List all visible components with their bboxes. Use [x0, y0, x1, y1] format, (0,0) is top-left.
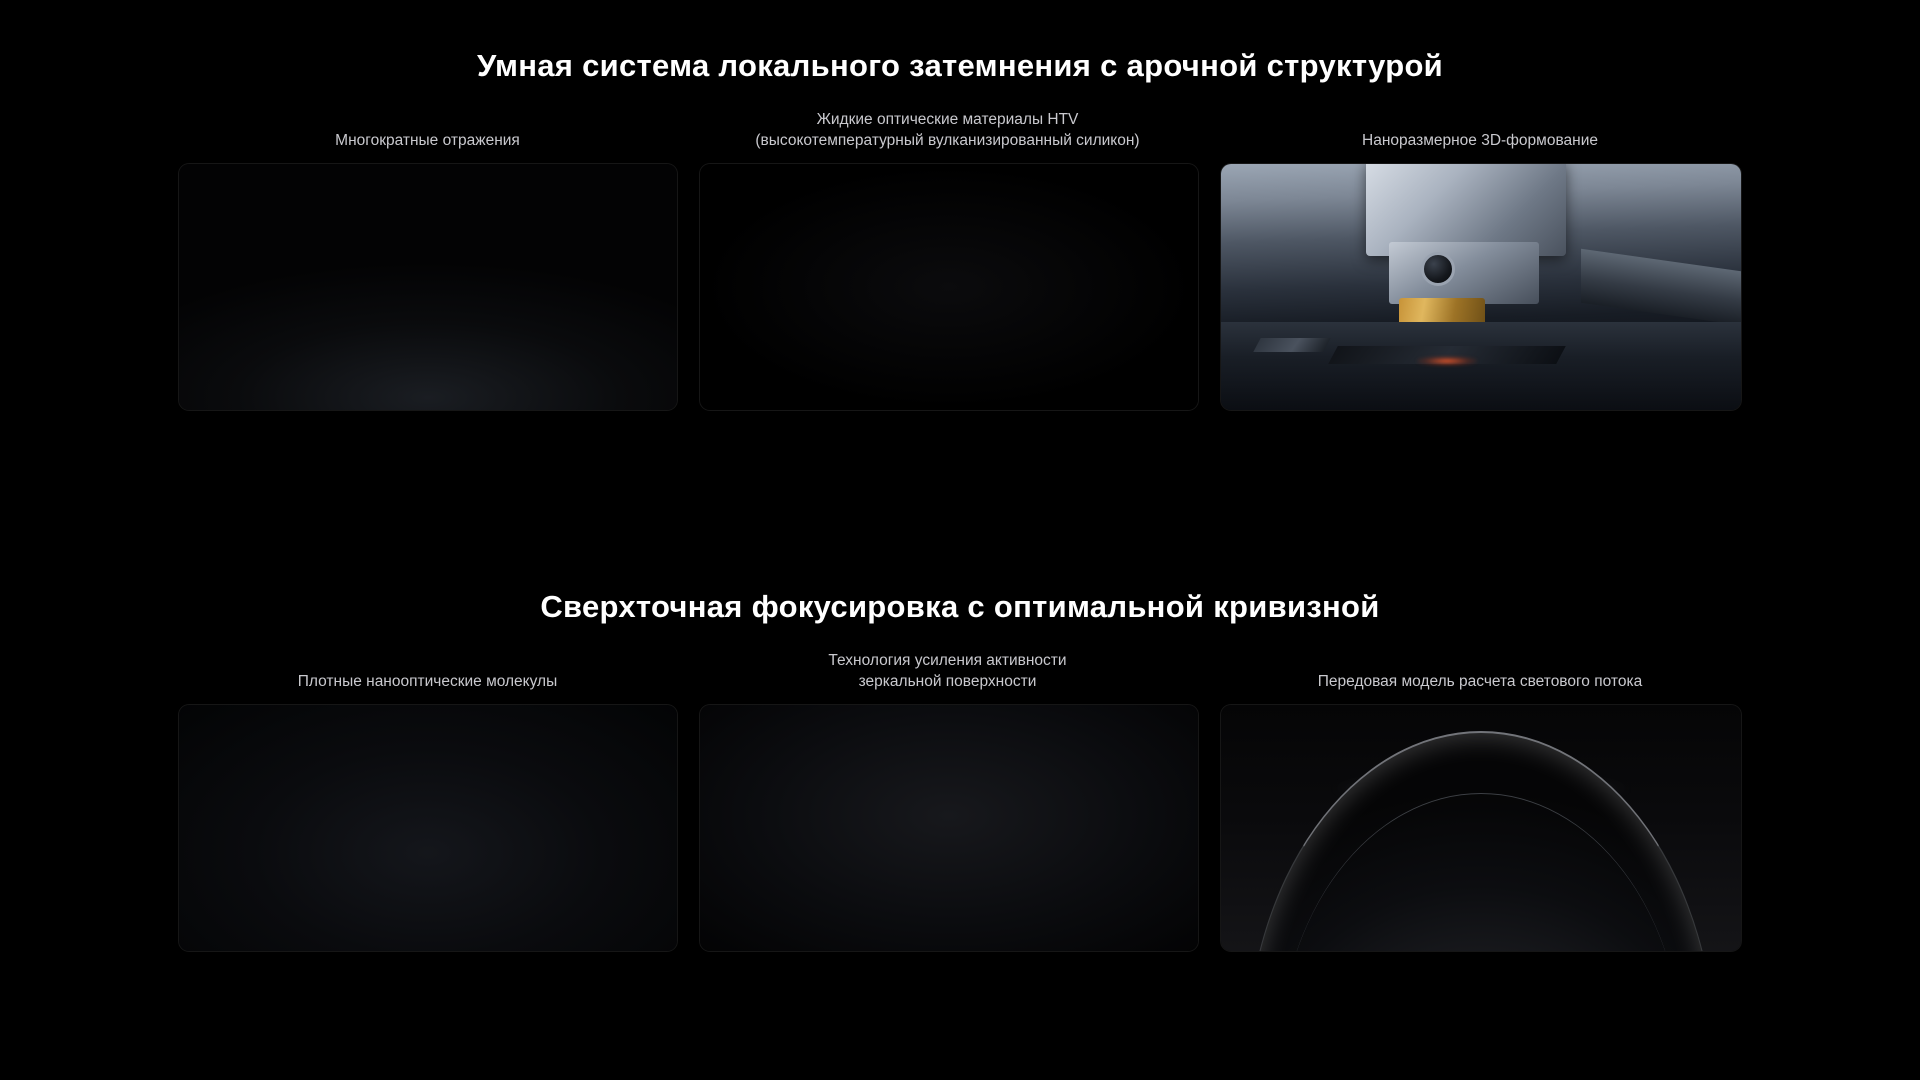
panel-caption-nano-3d-molding: Наноразмерное 3D-формование	[1218, 106, 1743, 152]
panel-background	[179, 705, 677, 951]
caption-line-1: Технология усиления активности	[828, 651, 1066, 672]
machine-head-lower	[1389, 242, 1539, 304]
caption-line: Передовая модель расчета светового поток…	[1318, 672, 1642, 693]
panel-molecular-lattice	[178, 704, 678, 952]
panel-light-flux-dome	[1220, 704, 1742, 952]
panel-background	[179, 164, 677, 410]
feature-page: Умная система локального затемнения с ар…	[0, 0, 1920, 1080]
section-2-panel-row	[178, 704, 1743, 952]
panel-cnc-laser-machine	[1220, 163, 1742, 411]
caption-line-1: Жидкие оптические материалы HTV	[755, 110, 1139, 131]
panel-liquid-silicone-blob	[699, 163, 1199, 411]
caption-line: Наноразмерное 3D-формование	[1362, 131, 1598, 152]
machine-workpiece-secondary	[1253, 338, 1330, 352]
panel-background	[700, 705, 1198, 951]
machine-laser-glow	[1417, 356, 1477, 366]
section-local-dimming: Умная система локального затемнения с ар…	[0, 0, 1920, 411]
section-1-caption-row: Многократные отражения Жидкие оптические…	[178, 106, 1743, 152]
panel-caption-nano-optical-molecules: Плотные нанооптические молекулы	[178, 649, 678, 693]
machine-lens-icon	[1421, 252, 1455, 286]
section-1-panel-row	[178, 163, 1743, 411]
panel-white-sphere-molecule	[699, 704, 1199, 952]
machine-bed	[1221, 322, 1741, 410]
section-1-title: Умная система локального затемнения с ар…	[0, 47, 1920, 84]
caption-line: Плотные нанооптические молекулы	[298, 672, 557, 693]
panel-caption-multiple-reflections: Многократные отражения	[178, 106, 678, 152]
panel-caption-light-flux-model: Передовая модель расчета светового поток…	[1218, 649, 1743, 693]
panel-caption-htv-silicone: Жидкие оптические материалы HTV (высокот…	[678, 106, 1218, 152]
section-precision-focus: Сверхточная фокусировка с оптимальной кр…	[0, 560, 1920, 952]
caption-line-2: (высокотемпературный вулканизированный с…	[755, 131, 1139, 152]
caption-line: Многократные отражения	[335, 131, 520, 152]
panel-arch-reflection-diagram	[178, 163, 678, 411]
section-2-caption-row: Плотные нанооптические молекулы Технолог…	[178, 649, 1743, 693]
panel-caption-mirror-activity: Технология усиления активности зеркально…	[678, 649, 1218, 693]
panel-background	[700, 164, 1198, 410]
caption-line-2: зеркальной поверхности	[828, 672, 1066, 693]
section-2-title: Сверхточная фокусировка с оптимальной кр…	[0, 588, 1920, 625]
